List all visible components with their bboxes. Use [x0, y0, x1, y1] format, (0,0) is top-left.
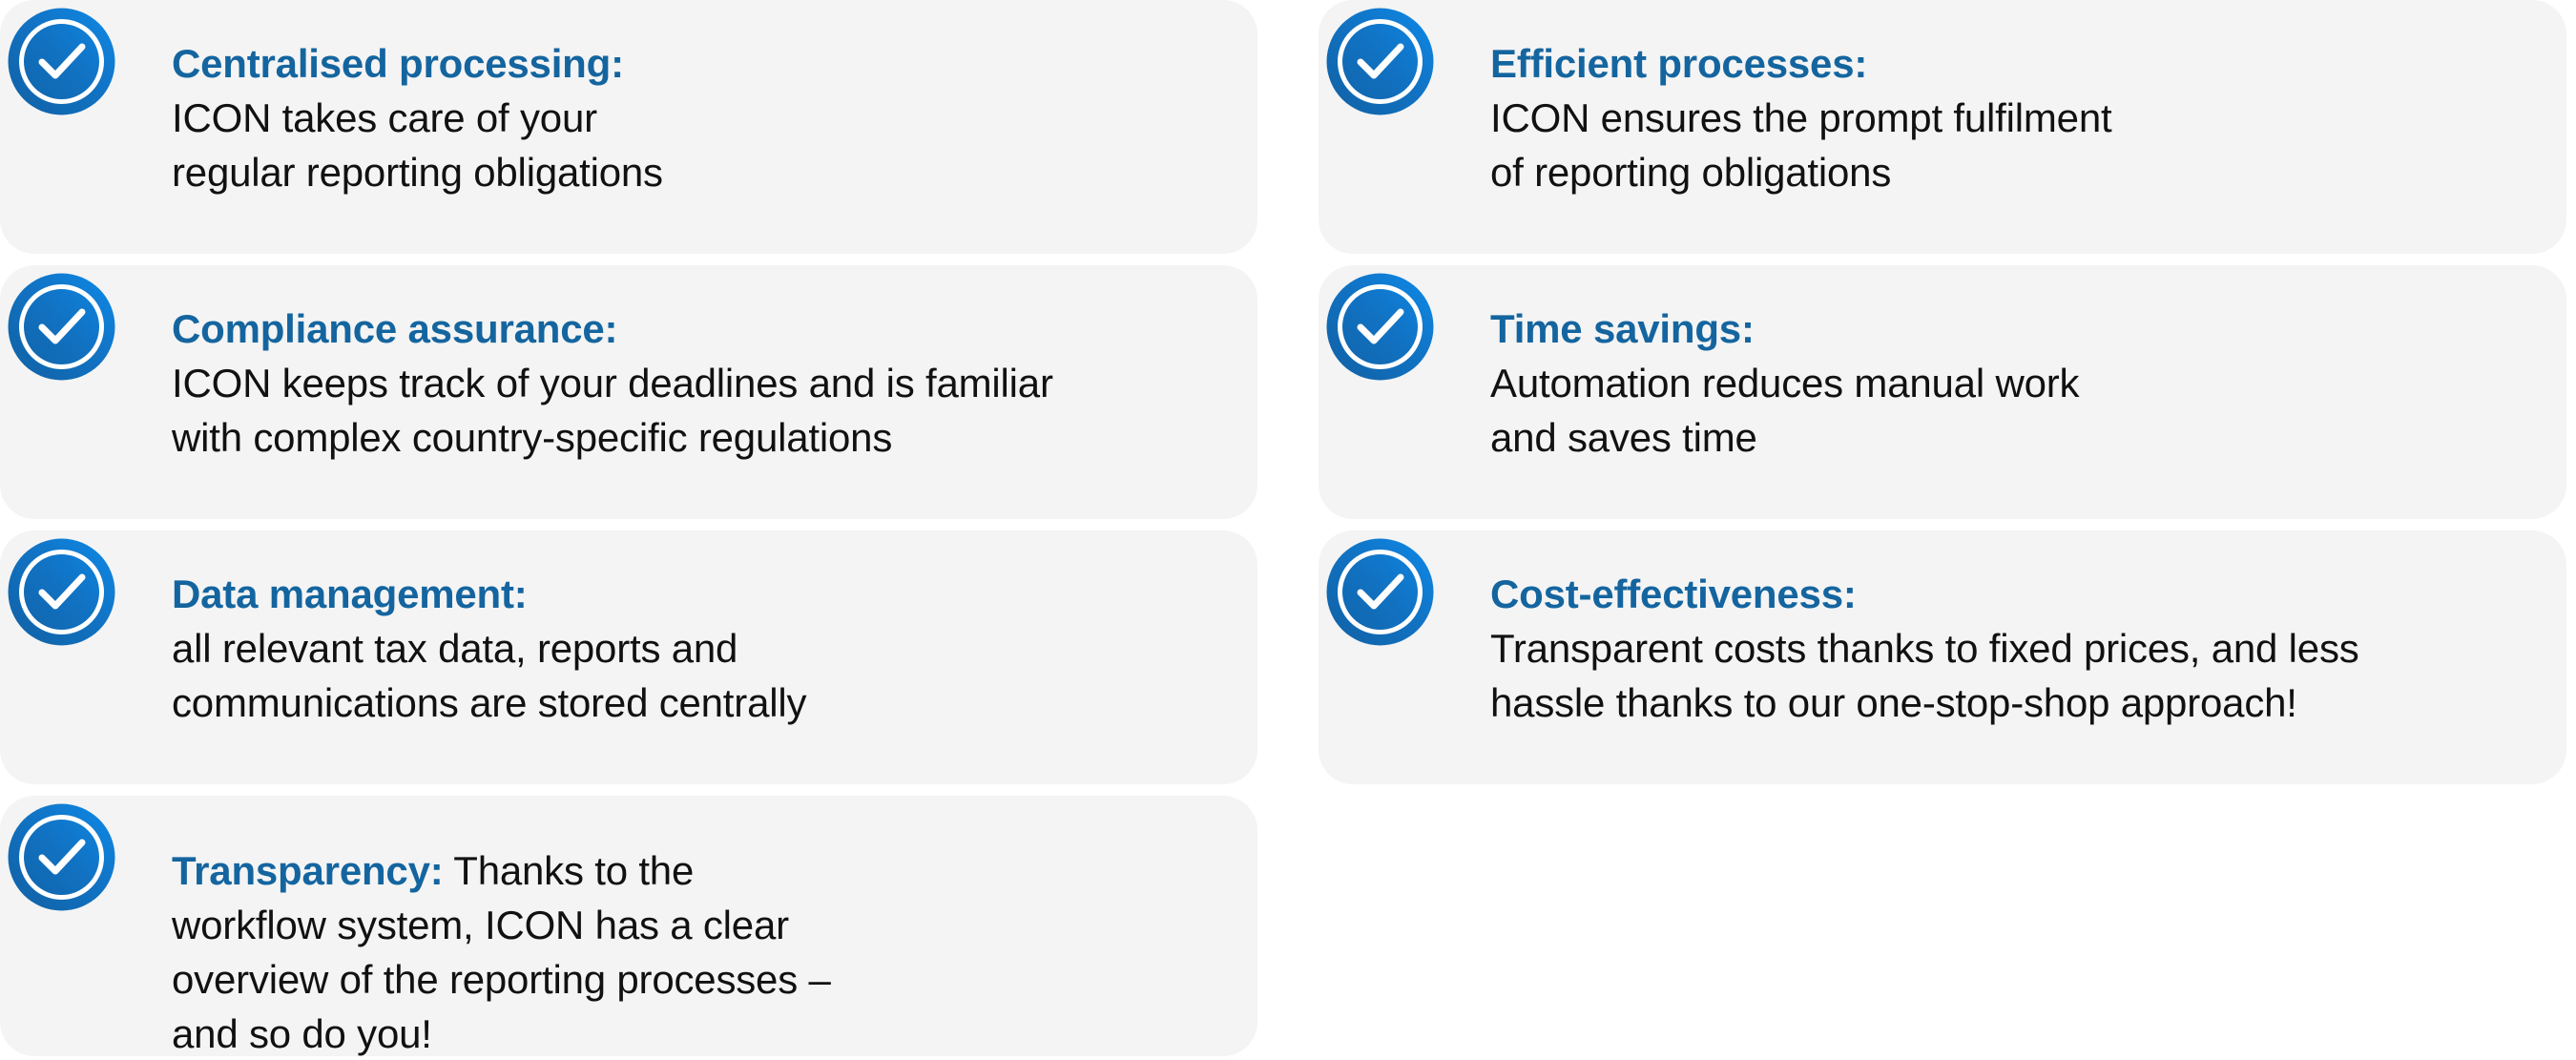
card-body-line: with complex country-specific regulation…: [172, 410, 1219, 465]
benefits-column-right: Efficient processes: ICON ensures the pr…: [1319, 0, 2566, 796]
card-heading: Data management:: [172, 567, 1219, 621]
card-heading: Transparency:: [172, 848, 444, 893]
card-body-line: ICON keeps track of your deadlines and i…: [172, 356, 1219, 410]
card-heading: Efficient processes:: [1490, 36, 2528, 91]
card-text: Efficient processes: ICON ensures the pr…: [1490, 0, 2566, 199]
card-text: Data management: all relevant tax data, …: [172, 530, 1257, 730]
check-circle-icon: [3, 268, 120, 385]
check-circle-icon: [1321, 3, 1439, 120]
card-text: Centralised processing: ICON takes care …: [172, 0, 1257, 199]
card-body: all relevant tax data, reports and commu…: [172, 621, 1219, 730]
card-body: ICON keeps track of your deadlines and i…: [172, 356, 1219, 465]
benefit-card-efficient-processes: Efficient processes: ICON ensures the pr…: [1319, 0, 2566, 254]
card-heading: Time savings:: [1490, 301, 2528, 356]
card-body-line: regular reporting obligations: [172, 145, 1219, 199]
benefit-card-cost-effectiveness: Cost-effectiveness: Transparent costs th…: [1319, 530, 2566, 784]
card-body: Automation reduces manual work and saves…: [1490, 356, 2528, 465]
card-text: Cost-effectiveness: Transparent costs th…: [1490, 530, 2566, 730]
card-body-line: communications are stored centrally: [172, 675, 1219, 730]
card-heading: Cost-effectiveness:: [1490, 567, 2528, 621]
card-body-line: Transparent costs thanks to fixed prices…: [1490, 621, 2528, 675]
benefit-card-centralised-processing: Centralised processing: ICON takes care …: [0, 0, 1257, 254]
card-body: ICON ensures the prompt fulfilment of re…: [1490, 91, 2528, 199]
benefits-column-left: Centralised processing: ICON takes care …: [0, 0, 1257, 1060]
check-circle-icon: [1321, 268, 1439, 385]
card-body-line: ICON takes care of your: [172, 91, 1219, 145]
card-text: Transparency: Thanks to the workflow sys…: [172, 796, 1257, 1060]
card-text: Time savings: Automation reduces manual …: [1490, 265, 2566, 465]
check-circle-icon: [1321, 533, 1439, 651]
benefit-card-transparency: Transparency: Thanks to the workflow sys…: [0, 796, 1257, 1056]
benefit-card-time-savings: Time savings: Automation reduces manual …: [1319, 265, 2566, 519]
card-heading: Compliance assurance:: [172, 301, 1219, 356]
card-body-line: and saves time: [1490, 410, 2528, 465]
card-body: Transparent costs thanks to fixed prices…: [1490, 621, 2528, 730]
card-body-line: of reporting obligations: [1490, 145, 2528, 199]
card-body-line: hassle thanks to our one-stop-shop appro…: [1490, 675, 2528, 730]
benefit-card-compliance-assurance: Compliance assurance: ICON keeps track o…: [0, 265, 1257, 519]
benefit-card-data-management: Data management: all relevant tax data, …: [0, 530, 1257, 784]
card-body-line: ICON ensures the prompt fulfilment: [1490, 91, 2528, 145]
benefits-grid: Centralised processing: ICON takes care …: [0, 0, 2576, 1060]
card-body-line: all relevant tax data, reports and: [172, 621, 1219, 675]
card-text: Compliance assurance: ICON keeps track o…: [172, 265, 1257, 465]
card-body-line: Automation reduces manual work: [1490, 356, 2528, 410]
check-circle-icon: [3, 3, 120, 120]
card-body: ICON takes care of your regular reportin…: [172, 91, 1219, 199]
card-heading: Centralised processing:: [172, 36, 1219, 91]
check-circle-icon: [3, 533, 120, 651]
check-circle-icon: [3, 799, 120, 916]
